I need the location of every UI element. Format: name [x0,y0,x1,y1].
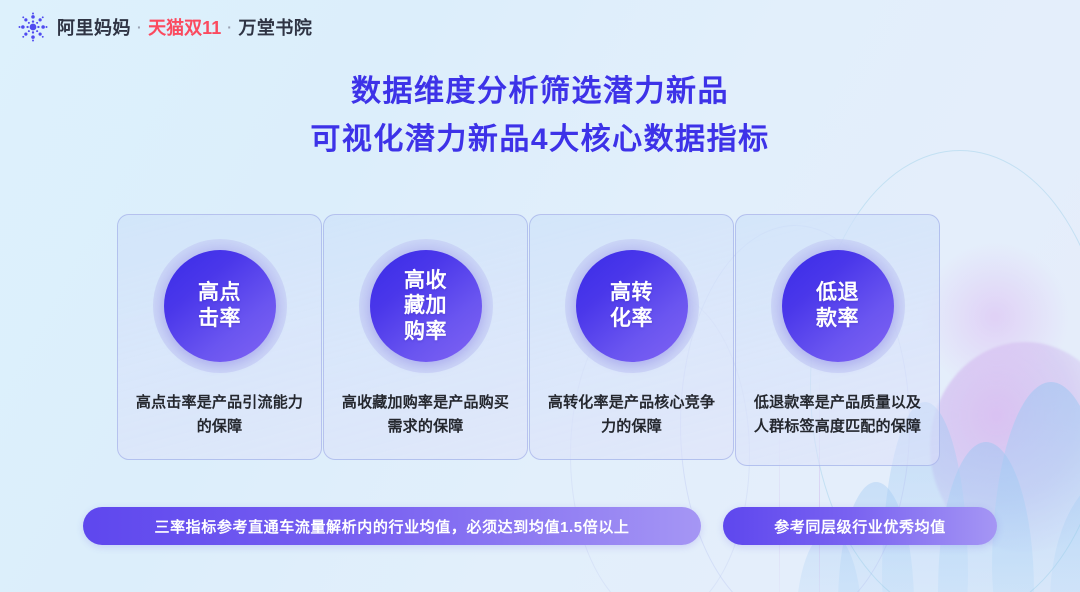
circle-halo: 低退 款率 [771,239,905,373]
slide-canvas: 阿里妈妈 · 天猫双11 · 万堂书院 数据维度分析筛选潜力新品 可视化潜力新品… [0,0,1080,592]
metric-card-favorite-cart[interactable]: 高收 藏加 购率 高收藏加购率是产品购买需求的保障 [323,214,528,460]
metric-circle-label: 高点 击率 [198,280,241,331]
metric-card-list: 高点 击率 高点击率是产品引流能力的保障 高收 藏加 购率 高收藏加购率是产品购… [117,214,965,464]
page-title-line-2: 可视化潜力新品4大核心数据指标 [0,120,1080,160]
metric-description: 高转化率是产品核心竞争力的保障 [546,391,718,438]
title-block: 数据维度分析筛选潜力新品 可视化潜力新品4大核心数据指标 [0,72,1080,159]
metric-description: 高收藏加购率是产品购买需求的保障 [340,391,512,438]
brand-name-tmall: 天猫双11 [148,14,221,40]
circle-halo: 高转 化率 [565,239,699,373]
metric-circle: 高点 击率 [164,250,276,362]
metric-card-ctr[interactable]: 高点 击率 高点击率是产品引流能力的保障 [117,214,322,460]
circle-halo: 高点 击率 [153,239,287,373]
metric-circle: 高转 化率 [576,250,688,362]
footnote-pill-list: 三率指标参考直通车流量解析内的行业均值，必须达到均值1.5倍以上 参考同层级行业… [0,507,1080,545]
brand-header: 阿里妈妈 · 天猫双11 · 万堂书院 [18,9,312,45]
brand-separator-1: · [137,19,142,35]
metric-circle-label: 高收 藏加 购率 [404,268,447,345]
brand-separator-2: · [227,19,232,35]
metric-description: 高点击率是产品引流能力的保障 [134,391,306,438]
metric-description: 低退款率是产品质量以及人群标签高度匹配的保障 [752,391,924,438]
alimama-starburst-icon [18,12,48,42]
brand-name-alimama: 阿里妈妈 [57,14,131,40]
footnote-pill-benchmark[interactable]: 三率指标参考直通车流量解析内的行业均值，必须达到均值1.5倍以上 [83,507,701,545]
metric-circle-label: 高转 化率 [610,280,653,331]
metric-card-refund[interactable]: 低退 款率 低退款率是产品质量以及人群标签高度匹配的保障 [735,214,940,466]
brand-name-academy: 万堂书院 [238,14,312,40]
metric-card-conversion[interactable]: 高转 化率 高转化率是产品核心竞争力的保障 [529,214,734,460]
metric-circle: 高收 藏加 购率 [370,250,482,362]
metric-circle-label: 低退 款率 [816,280,859,331]
circle-halo: 高收 藏加 购率 [359,239,493,373]
page-title-line-1: 数据维度分析筛选潜力新品 [0,72,1080,112]
metric-circle: 低退 款率 [782,250,894,362]
footnote-pill-peer-average[interactable]: 参考同层级行业优秀均值 [723,507,997,545]
petal-decor-1 [992,382,1080,592]
